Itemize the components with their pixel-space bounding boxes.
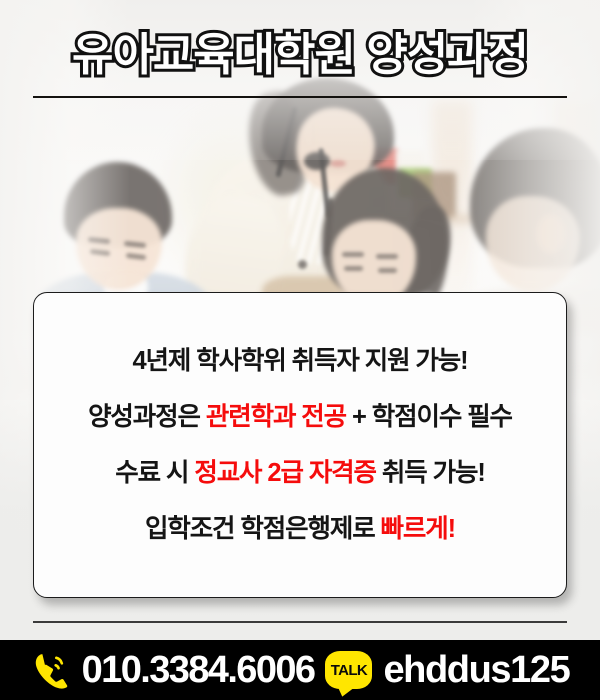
phone-number[interactable]: 010.3384.6006	[82, 650, 315, 690]
kakaotalk-id[interactable]: ehddus125	[383, 650, 569, 690]
info-line-4-segment-1: 입학조건 학점은행제로	[145, 515, 381, 543]
info-line-2-segment-3: + 학점이수 필수	[346, 403, 512, 431]
info-line-4-highlight: 빠르게!	[381, 515, 455, 543]
info-line-2-highlight: 관련학과 전공	[206, 403, 346, 431]
contact-bar: 010.3384.6006 TALK ehddus125	[0, 640, 600, 700]
kakaotalk-label: TALK	[331, 663, 367, 678]
promo-poster: 유아교육대학원 양성과정 4년제 학사학위 취득자 지원 가능! 양성과정은 관…	[0, 0, 600, 700]
info-line-3-highlight: 정교사 2급 자격증	[194, 459, 376, 487]
info-line-1: 4년제 학사학위 취득자 지원 가능!	[132, 344, 467, 378]
info-line-2-segment-1: 양성과정은	[88, 403, 206, 431]
info-line-3-segment-3: 취득 가능!	[376, 459, 485, 487]
phone-handset-icon[interactable]	[31, 650, 71, 690]
info-line-1-segment-1: 4년제 학사학위 취득자 지원 가능!	[132, 347, 467, 375]
info-line-3: 수료 시 정교사 2급 자격증 취득 가능!	[115, 456, 484, 490]
divider-bottom	[33, 621, 567, 623]
info-line-2: 양성과정은 관련학과 전공 + 학점이수 필수	[88, 400, 512, 434]
divider-top	[33, 96, 567, 98]
page-title: 유아교육대학원 양성과정	[0, 25, 600, 85]
info-line-4: 입학조건 학점은행제로 빠르게!	[145, 512, 455, 546]
info-card: 4년제 학사학위 취득자 지원 가능! 양성과정은 관련학과 전공 + 학점이수…	[33, 292, 567, 598]
info-line-3-segment-1: 수료 시	[115, 459, 194, 487]
kakaotalk-icon[interactable]: TALK	[325, 651, 372, 689]
